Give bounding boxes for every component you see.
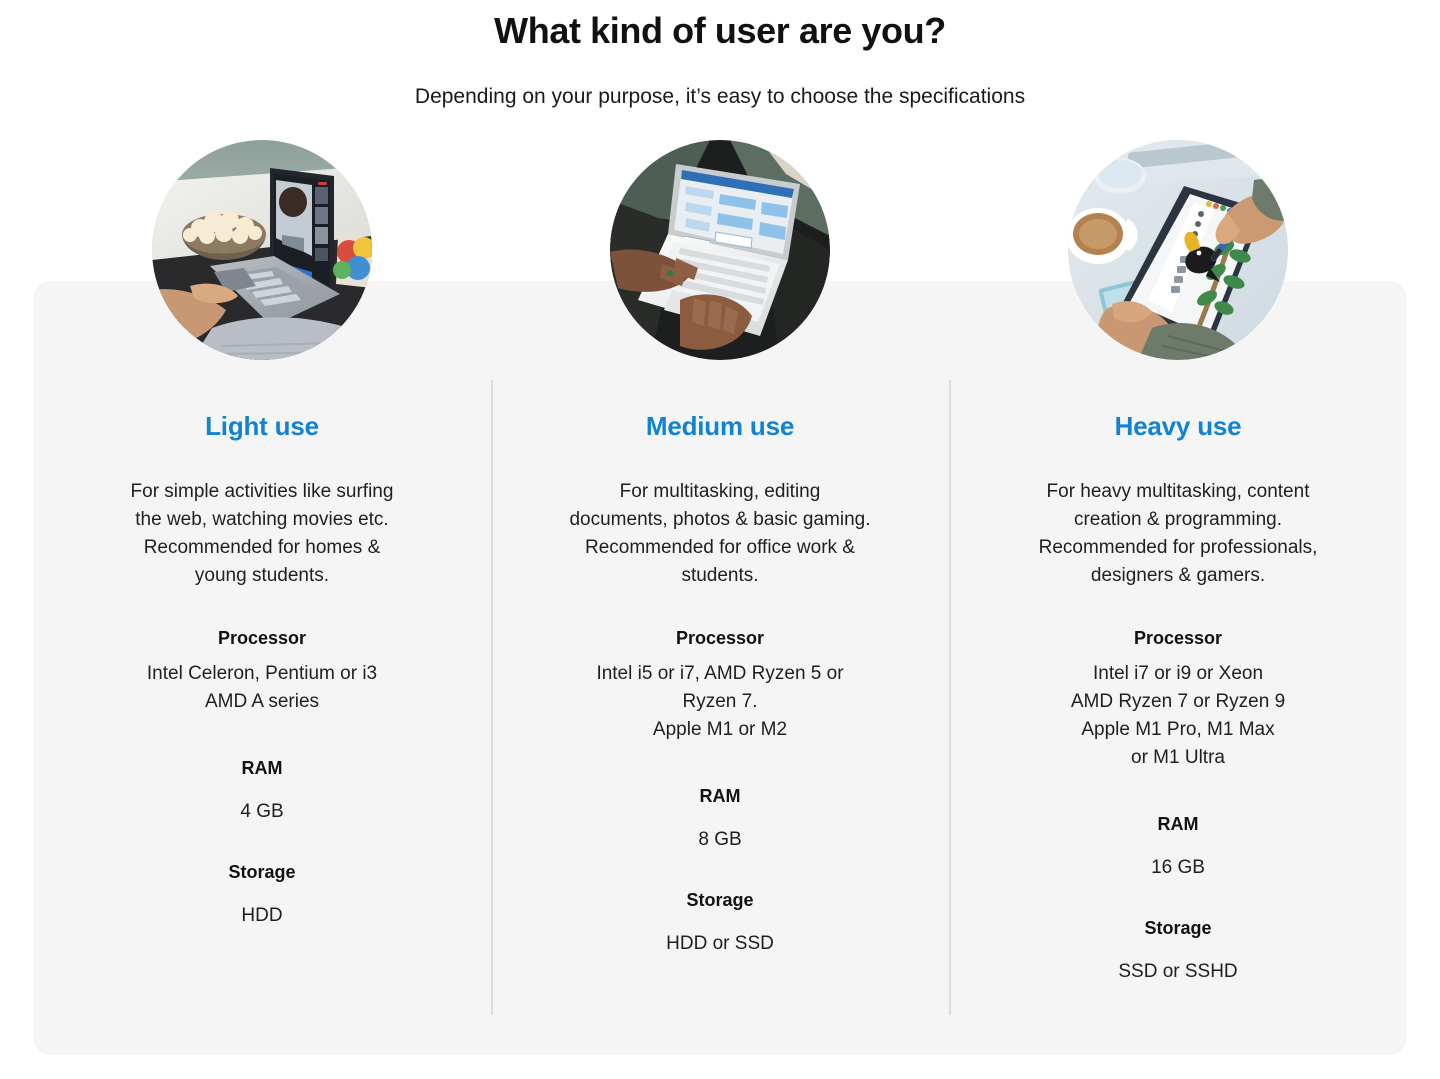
- comparison-infographic: What kind of user are you? Depending on …: [0, 0, 1440, 1079]
- spec-label-storage-medium: Storage: [686, 888, 753, 912]
- column-light-use[interactable]: Light use For simple activities like sur…: [33, 140, 491, 1040]
- header: What kind of user are you? Depending on …: [0, 0, 1440, 112]
- spec-value-ram-medium: 8 GB: [698, 826, 741, 854]
- spec-label-storage-light: Storage: [228, 860, 295, 884]
- column-title-heavy: Heavy use: [1115, 410, 1242, 442]
- spec-value-ram-light: 4 GB: [240, 798, 283, 826]
- column-title-medium: Medium use: [646, 410, 794, 442]
- column-description-heavy: For heavy multitasking, content creation…: [1039, 478, 1318, 590]
- spec-label-processor-light: Processor: [218, 626, 306, 650]
- spec-label-processor-heavy: Processor: [1134, 626, 1222, 650]
- photo-medium-use: [610, 140, 830, 360]
- column-title-light: Light use: [205, 410, 319, 442]
- spec-label-ram-heavy: RAM: [1158, 812, 1199, 836]
- spec-value-processor-medium: Intel i5 or i7, AMD Ryzen 5 or Ryzen 7. …: [596, 660, 843, 744]
- spec-label-storage-heavy: Storage: [1144, 916, 1211, 940]
- page-subtitle: Depending on your purpose, it’s easy to …: [0, 82, 1440, 112]
- spec-label-ram-light: RAM: [242, 756, 283, 780]
- spec-value-storage-light: HDD: [241, 902, 282, 930]
- column-description-medium: For multitasking, editing documents, pho…: [569, 478, 870, 590]
- spec-value-ram-heavy: 16 GB: [1151, 854, 1205, 882]
- photo-light-use: [152, 140, 372, 360]
- spec-label-ram-medium: RAM: [700, 784, 741, 808]
- specs-columns: Light use For simple activities like sur…: [33, 140, 1407, 1040]
- spec-label-processor-medium: Processor: [676, 626, 764, 650]
- spec-value-storage-heavy: SSD or SSHD: [1118, 958, 1237, 986]
- photo-heavy-use: [1068, 140, 1288, 360]
- column-heavy-use[interactable]: Heavy use For heavy multitasking, conten…: [949, 140, 1407, 1040]
- page-title: What kind of user are you?: [0, 8, 1440, 54]
- spec-value-storage-medium: HDD or SSD: [666, 930, 774, 958]
- column-description-light: For simple activities like surfing the w…: [131, 478, 394, 590]
- column-medium-use[interactable]: Medium use For multitasking, editing doc…: [491, 140, 949, 1040]
- spec-value-processor-heavy: Intel i7 or i9 or Xeon AMD Ryzen 7 or Ry…: [1071, 660, 1285, 772]
- spec-value-processor-light: Intel Celeron, Pentium or i3 AMD A serie…: [147, 660, 377, 716]
